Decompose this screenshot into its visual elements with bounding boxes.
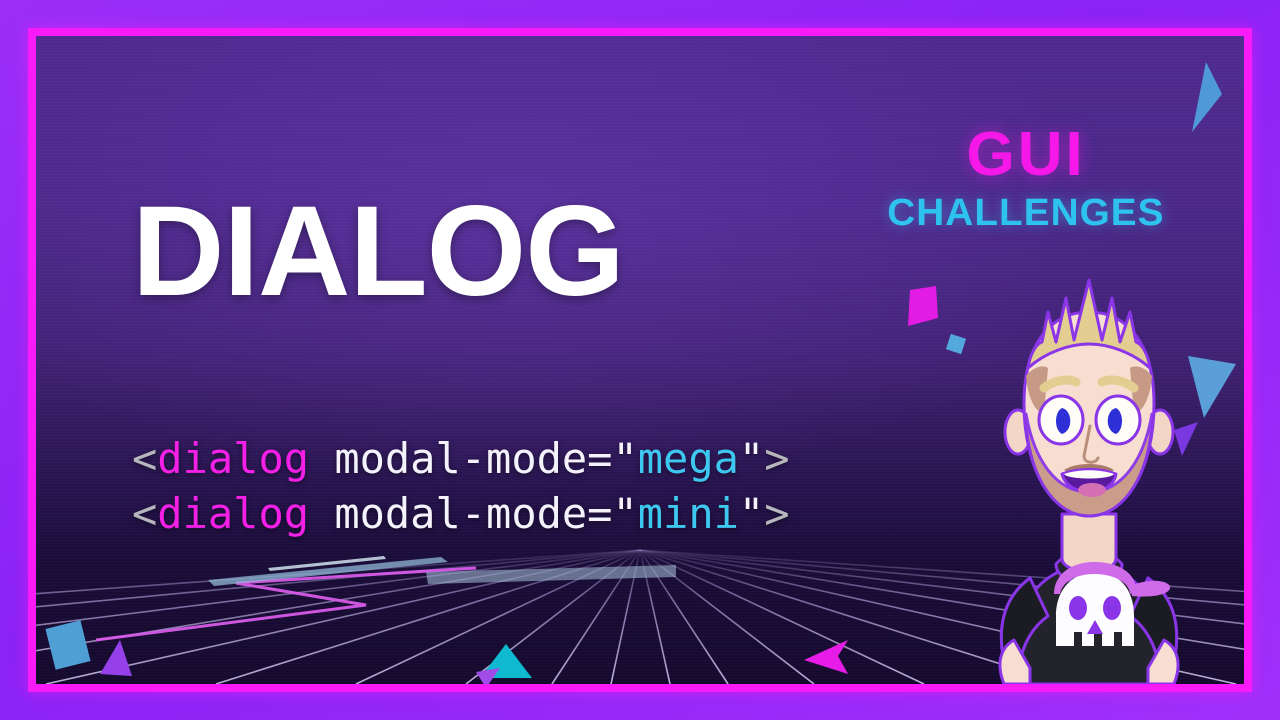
code-quote-open: ": [612, 489, 637, 538]
code-quote-close: ": [739, 489, 764, 538]
code-quote-close: ": [739, 434, 764, 483]
code-close-bracket: >: [764, 434, 789, 483]
code-open-bracket: <: [132, 434, 157, 483]
code-tag-name: dialog: [157, 489, 309, 538]
logo-line-gui: GUI: [890, 124, 1162, 186]
gui-challenges-logo: GUI CHALLENGES: [890, 124, 1162, 232]
poster-stage: DIALOG <dialog modal-mode="mega"> <dialo…: [36, 36, 1244, 684]
code-quote-open: ": [612, 434, 637, 483]
code-tag-name: dialog: [157, 434, 309, 483]
avatar: [944, 264, 1234, 684]
avatar-tongue: [1078, 483, 1106, 497]
code-space: [309, 489, 334, 538]
code-attribute-name: modal-mode=: [334, 489, 612, 538]
logo-line-challenges: CHALLENGES: [887, 194, 1164, 232]
confetti-shard-blue-top: [1192, 62, 1222, 132]
code-attribute-value: mini: [638, 489, 739, 538]
code-line-mini: <dialog modal-mode="mini">: [132, 486, 790, 541]
poster-canvas: DIALOG <dialog modal-mode="mega"> <dialo…: [0, 0, 1280, 720]
code-open-bracket: <: [132, 489, 157, 538]
confetti-shard-magenta-left: [908, 286, 938, 326]
code-line-mega: <dialog modal-mode="mega">: [132, 431, 790, 486]
code-snippet: <dialog modal-mode="mega"> <dialog modal…: [132, 431, 790, 541]
code-close-bracket: >: [764, 489, 789, 538]
page-title: DIALOG: [132, 188, 624, 316]
code-attribute-name: modal-mode=: [334, 434, 612, 483]
code-space: [309, 434, 334, 483]
code-attribute-value: mega: [638, 434, 739, 483]
